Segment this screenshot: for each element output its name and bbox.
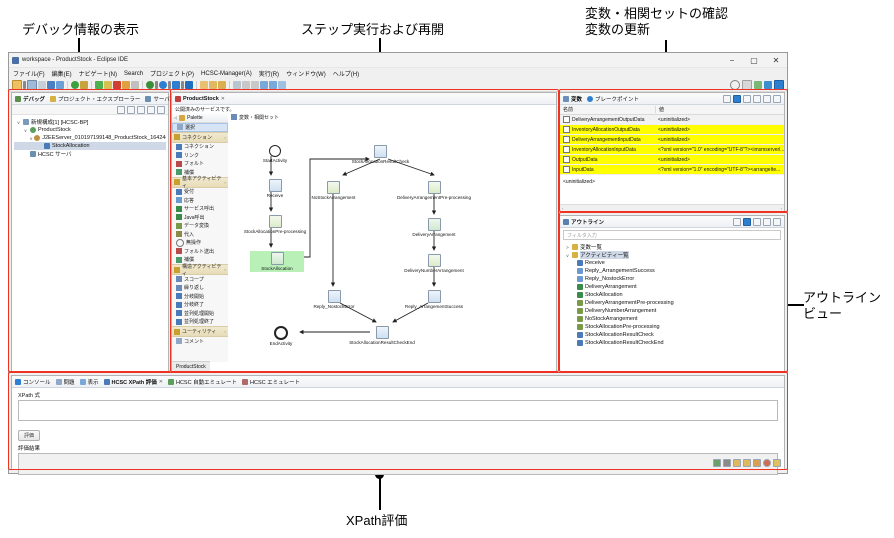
- palette-group-basic-activity-label: 基本アクティビティ: [182, 175, 223, 189]
- palette-item-link-label: リンク: [184, 152, 199, 159]
- list-item[interactable]: DeliveryArrangement: [562, 283, 782, 291]
- start-activity-icon: [269, 145, 281, 157]
- tab-debug-label: デバッグ: [23, 95, 45, 103]
- annotation-xpath: XPath評価: [346, 513, 407, 529]
- transform-icon-3: [428, 181, 441, 194]
- eclipse-window: workspace - ProductStock - Eclipse IDE −…: [8, 52, 788, 474]
- table-row[interactable]: InventoryAllocationInputData <?xml versi…: [560, 145, 784, 155]
- variables-horizontal-scrollbar[interactable]: ‹ ›: [560, 204, 784, 211]
- reply-icon-2: [428, 290, 441, 303]
- frame-icon: [44, 143, 50, 149]
- variables-correlation-icon: [231, 114, 237, 120]
- diagram-node-reply-arrangementsuccess[interactable]: Reply_ArrangementSuccess: [395, 290, 473, 309]
- thread-icon: [34, 135, 40, 141]
- diagram-node-resultcheck-label: StockAllocationResultCheck: [352, 159, 409, 164]
- filter-icon[interactable]: [127, 106, 135, 114]
- menu-window[interactable]: ウィンドウ(W): [286, 69, 326, 78]
- palette-group-structured-activity[interactable]: 構造アクティビティ ▫: [172, 264, 228, 275]
- bpel-editor: ProductStock ✕ 公開済みのサービスです。 ◁ Palette 選択…: [171, 92, 557, 372]
- variable-value-cell: <uninitialized>: [655, 127, 784, 133]
- diagram-node-nostockarrangement-label: NoStockArrangement: [312, 195, 356, 200]
- xpath-expression-input[interactable]: [18, 400, 778, 421]
- variable-name-text: DeliveryArrangementOutputData: [572, 117, 645, 123]
- transform-icon-5: [577, 300, 583, 306]
- pin-icon[interactable]: [278, 81, 286, 89]
- main-toolbar: [9, 79, 787, 92]
- tab-debug[interactable]: デバッグ: [15, 95, 45, 103]
- palette-group-utility[interactable]: ユーティリティ ▫: [172, 326, 228, 337]
- profile-icon[interactable]: [185, 81, 193, 89]
- open-file-icon[interactable]: [733, 459, 741, 467]
- variable-checkbox-icon: [563, 156, 570, 163]
- tree-node-frame-label: StockAllocation: [52, 143, 90, 149]
- palette-item-fault-label: フォルト: [184, 160, 204, 167]
- outline-item-label: NoStockArrangement: [585, 316, 638, 322]
- diagram-node-resultcheckend[interactable]: StockAllocationResultCheckEnd: [336, 326, 428, 345]
- palette-group-utility-label: ユーティリティ: [182, 328, 216, 335]
- tree-node-process[interactable]: v ProductStock: [14, 126, 166, 134]
- diagram-node-stockallocationpre-label: StockAllocationPre-processing: [244, 229, 306, 234]
- palette-item-java-invoke[interactable]: Java呼出: [172, 213, 228, 222]
- collapse-icon-3[interactable]: ▫: [225, 267, 226, 272]
- tab-display[interactable]: 表示: [80, 378, 99, 386]
- outline-item-label: Receive: [585, 260, 605, 266]
- debug-view-toolbar: [12, 105, 168, 115]
- list-item[interactable]: Receive: [562, 259, 782, 267]
- xpath-icon: [104, 379, 110, 385]
- reply-icon-4: [577, 268, 583, 274]
- palette-item-throw-fault-label: フォルト送出: [184, 248, 214, 255]
- perspective-debug-icon[interactable]: [764, 81, 772, 89]
- palette-item-loop-label: 繰り返し: [184, 284, 204, 291]
- palette-item-parallel-start-label: 並列処理開始: [184, 310, 214, 317]
- auto-emulate-icon: [168, 379, 174, 385]
- menu-edit[interactable]: 編集(E): [52, 69, 72, 78]
- collapse-icon[interactable]: ▫: [225, 135, 226, 140]
- tab-close-icon[interactable]: ✕: [221, 96, 225, 102]
- invoke-icon-4: [577, 292, 583, 298]
- chevron-left-icon[interactable]: ◁: [174, 115, 177, 120]
- bpel-file-icon: [175, 96, 181, 102]
- tab-project-explorer-label: プロジェクト・エクスプローラー: [58, 95, 140, 103]
- palette-group-basic-activity[interactable]: 基本アクティビティ ▫: [172, 177, 228, 188]
- palette-item-loop[interactable]: 繰り返し: [172, 284, 228, 293]
- parallel-start-icon: [176, 310, 182, 316]
- tab-problems-label: 問題: [64, 378, 75, 386]
- display-icon: [80, 379, 86, 385]
- chevron-down-icon-4[interactable]: [181, 81, 184, 89]
- build-icon[interactable]: [47, 81, 55, 89]
- edit-pencil-icon[interactable]: [753, 459, 761, 467]
- diagram-node-reply-nostockerror-label: Reply_NostockError: [313, 304, 354, 309]
- palette-item-select[interactable]: 選択: [172, 123, 228, 132]
- collapse-all-icon[interactable]: [117, 106, 125, 114]
- minimize-view-icon-3[interactable]: [763, 218, 771, 226]
- minimize-button[interactable]: −: [721, 54, 743, 67]
- column-header-name[interactable]: 名前: [560, 106, 655, 113]
- folder-icon: [572, 244, 578, 250]
- diagram-node-startactivity[interactable]: StartActivity: [255, 145, 295, 163]
- list-item[interactable]: NoStockArrangement: [562, 315, 782, 323]
- toolbar-separator-1: [67, 81, 68, 89]
- bottom-view-tabbar: コンソール 問題 表示 HCSC XPath 評価 ✕ HCSC 自動エミュレー…: [12, 376, 784, 388]
- variable-value-cell: <?xml version="1.0" encoding="UTF-8"?><a…: [655, 167, 784, 173]
- resume-icon[interactable]: [95, 81, 103, 89]
- diagram-node-receive-label: Receive: [267, 193, 284, 198]
- transform-icon-2: [327, 181, 340, 194]
- launch-icon: [23, 119, 29, 125]
- tab-hcsc-xpath-evaluation[interactable]: HCSC XPath 評価 ✕: [104, 378, 163, 386]
- diagram-node-deliverynumberarrangement[interactable]: DeliveryNumberArrangement: [394, 254, 474, 273]
- step-over-icon[interactable]: [131, 81, 139, 89]
- diagram-node-deliveryarrangement[interactable]: DeliveryArrangement: [400, 218, 468, 237]
- variable-value-cell: <?xml version="1.0" encoding="UTF-8"?><i…: [655, 147, 784, 153]
- paste-icon[interactable]: [723, 459, 731, 467]
- back-icon[interactable]: [260, 81, 268, 89]
- outline-node-variables-label: 変数一覧: [580, 243, 602, 251]
- search-tool-icon[interactable]: [233, 81, 241, 89]
- debug-tree: v 新規構成[1] [HCSC-BP] v ProductStock v J2E…: [12, 115, 168, 161]
- variable-value-cell: <uninitialized>: [655, 117, 784, 123]
- chevron-down-icon-5[interactable]: v: [565, 253, 570, 258]
- tab-breakpoints[interactable]: ブレークポイント: [587, 95, 639, 103]
- palette-item-empty[interactable]: 無操作: [172, 239, 228, 248]
- open-type-icon[interactable]: [146, 81, 154, 89]
- variable-name-cell: DeliveryArrangementInputData: [560, 136, 655, 143]
- outline-view: アウトライン フィルタ入力 > 変数一覧 v アクティビティー覧: [559, 215, 785, 372]
- palette: ◁ Palette 選択 コネクション ▫ コネクション リンク: [172, 113, 229, 362]
- annotation-outline-view: アウトライン ビュー: [803, 290, 881, 323]
- forward-icon[interactable]: [269, 81, 277, 89]
- close-button[interactable]: ✕: [765, 54, 787, 67]
- chevron-down-icon[interactable]: [23, 81, 26, 89]
- table-row[interactable]: DeliveryArrangementOutputData <uninitial…: [560, 115, 784, 125]
- palette-header[interactable]: ◁ Palette: [172, 113, 228, 123]
- tab-problems[interactable]: 問題: [56, 378, 75, 386]
- collapse-icon-2[interactable]: ▫: [225, 180, 226, 185]
- folder-icon[interactable]: [200, 81, 208, 89]
- variable-name-text: InventoryAllocationInputData: [572, 147, 636, 153]
- branch-end-icon: [176, 302, 182, 308]
- tab-console[interactable]: コンソール: [15, 378, 51, 386]
- diagram-node-stockallocation[interactable]: StockAllocation: [250, 251, 304, 272]
- palette-item-comment[interactable]: コメント: [172, 337, 228, 346]
- menu-project[interactable]: プロジェクト(P): [150, 69, 194, 78]
- palette-item-connection[interactable]: コネクション: [172, 143, 228, 152]
- palette-item-service-invoke[interactable]: サービス呼出: [172, 205, 228, 214]
- xpath-expression-label: XPath 式: [18, 391, 778, 399]
- palette-item-branch-end-label: 分岐終了: [184, 301, 204, 308]
- palette-group-connection[interactable]: コネクション ▫: [172, 132, 228, 143]
- window-controls: − ▢ ✕: [721, 54, 787, 67]
- diagram-node-receive[interactable]: Receive: [255, 179, 295, 198]
- menu-navigate[interactable]: ナビゲート(N): [79, 69, 117, 78]
- palette-item-assign[interactable]: 代入: [172, 230, 228, 239]
- list-item[interactable]: StockAllocationPre-processing: [562, 323, 782, 331]
- tab-hcsc-emulate[interactable]: HCSC エミュレート: [242, 378, 300, 386]
- editor-tabbar: ProductStock ✕: [172, 93, 556, 105]
- outline-item-label: Reply_ArrangementSuccess: [585, 268, 655, 274]
- reply-icon-3: [328, 290, 341, 303]
- evaluation-result-output[interactable]: [18, 453, 778, 475]
- save-all-icon[interactable]: [38, 81, 46, 89]
- invoke-icon-3: [577, 284, 583, 290]
- variable-checkbox-icon: [563, 116, 570, 123]
- throw-fault-icon: [176, 248, 182, 254]
- bug-icon: [15, 96, 21, 102]
- diagram-node-stockallocation-label: StockAllocation: [261, 266, 292, 271]
- table-row[interactable]: InputData <?xml version="1.0" encoding="…: [560, 165, 784, 175]
- terminate-icon[interactable]: [113, 81, 121, 89]
- debug-as-icon[interactable]: [172, 81, 180, 89]
- maximize-view-icon-3[interactable]: [773, 218, 781, 226]
- variable-name-text: OutputData: [572, 157, 598, 163]
- menu-run[interactable]: 実行(R): [259, 69, 279, 78]
- diagram-node-endactivity-label: EndActivity: [270, 341, 293, 346]
- minimize-view-icon-2[interactable]: [763, 95, 771, 103]
- edit-icon[interactable]: [218, 81, 226, 89]
- minimize-view-icon[interactable]: [147, 106, 155, 114]
- maximize-button[interactable]: ▢: [743, 54, 765, 67]
- collapse-icon-4[interactable]: ▫: [225, 329, 226, 334]
- collapse-all-icon-2[interactable]: [723, 95, 731, 103]
- column-header-value[interactable]: 値: [655, 106, 784, 113]
- reply-icon: [176, 197, 182, 203]
- tree-node-hcsc-server-label: HCSC サーバ: [38, 150, 72, 158]
- folder-icon-5: [572, 252, 578, 258]
- palette-item-reply-label: 応答: [184, 197, 194, 204]
- quick-access-search-icon[interactable]: [730, 80, 740, 90]
- outline-view-toolbar: [733, 218, 781, 226]
- run-icon[interactable]: [71, 81, 79, 89]
- palette-item-parallel-end-label: 並列処理終了: [184, 318, 214, 325]
- palette-item-java-invoke-label: Java呼出: [184, 214, 205, 221]
- tree-node-thread[interactable]: v J2EEServer_010197199148_ProductStock_1…: [14, 134, 166, 142]
- xpath-view-toolbar: [713, 459, 781, 467]
- chevron-down-icon[interactable]: v: [23, 128, 28, 133]
- cursor-icon: [177, 124, 183, 130]
- debug-view-tabbar: デバッグ プロジェクト・エクスプローラー サーバー: [12, 93, 168, 105]
- outline-item-label: Reply_NostockError: [585, 276, 634, 282]
- invoke-icon-2: [428, 218, 441, 231]
- list-item[interactable]: DeliveryArrangementPre-processing: [562, 299, 782, 307]
- invoke-icon: [176, 206, 182, 212]
- tree-node-process-label: ProductStock: [38, 127, 71, 133]
- canvas-variables-header-label: 変数・相関セット: [239, 114, 279, 121]
- palette-item-parallel-end[interactable]: 並列処理終了: [172, 318, 228, 327]
- toolbar-separator-2: [91, 81, 92, 89]
- help-icon[interactable]: [773, 459, 781, 467]
- outline-icon: [563, 219, 569, 225]
- menu-file[interactable]: ファイル(F): [13, 69, 45, 78]
- sort-icon[interactable]: [733, 218, 741, 226]
- diagram-node-reply-nostockerror[interactable]: Reply_NostockError: [303, 290, 365, 309]
- diagram-node-stockallocationpre[interactable]: StockAllocationPre-processing: [230, 215, 320, 234]
- tab-productstock-editor-label: ProductStock: [183, 96, 219, 102]
- folder2-icon[interactable]: [209, 81, 217, 89]
- new-icon[interactable]: [12, 80, 22, 90]
- maximize-view-icon-2[interactable]: [773, 95, 781, 103]
- server-icon: [145, 96, 151, 102]
- window-title: workspace - ProductStock - Eclipse IDE: [22, 57, 128, 63]
- palette-item-data-transform[interactable]: データ変換: [172, 222, 228, 231]
- save-icon[interactable]: [27, 80, 37, 90]
- list-item[interactable]: Reply_NostockError: [562, 275, 782, 283]
- tab-close-icon-2[interactable]: ✕: [159, 379, 163, 385]
- variable-name-cell: OutputData: [560, 156, 655, 163]
- evaluate-button[interactable]: 評価: [18, 430, 40, 441]
- canvas-variables-header[interactable]: 変数・相関セット: [228, 113, 556, 121]
- fault-icon: [176, 161, 182, 167]
- transform-icon-8: [577, 324, 583, 330]
- diagram-node-deliverynumberarrangement-label: DeliveryNumberArrangement: [404, 268, 464, 273]
- project-icon: [50, 96, 56, 102]
- menu-hcsc-manager[interactable]: HCSC-Manager(A): [201, 71, 252, 77]
- perspective-java-icon[interactable]: [754, 81, 762, 89]
- palette-item-comment-label: コメント: [184, 338, 204, 345]
- list-item[interactable]: StockAllocation: [562, 291, 782, 299]
- annotation-step-execution: ステップ実行および再開: [301, 22, 444, 38]
- variables-table-header: 名前 値: [560, 105, 784, 115]
- palette-item-branch-start-label: 分岐開始: [184, 293, 204, 300]
- loop-icon: [176, 285, 182, 291]
- outline-tree: > 変数一覧 v アクティビティー覧 Receive Reply_Arrange…: [560, 242, 784, 350]
- tab-variables[interactable]: 変数: [563, 95, 582, 103]
- palette-item-link[interactable]: リンク: [172, 151, 228, 160]
- outline-node-activities[interactable]: v アクティビティー覧: [562, 251, 782, 259]
- table-row[interactable]: DeliveryArrangementInputData <uninitiali…: [560, 135, 784, 145]
- hide-fields-icon[interactable]: [743, 218, 751, 226]
- tab-hcsc-emulate-label: HCSC エミュレート: [250, 378, 300, 386]
- outline-item-label: DeliveryArrangementPre-processing: [585, 300, 674, 306]
- variable-checkbox-icon: [563, 136, 570, 143]
- palette-item-data-transform-label: データ変換: [184, 222, 209, 229]
- menu-search[interactable]: Search: [124, 71, 143, 77]
- list-item[interactable]: StockAllocationResultCheck: [562, 331, 782, 339]
- editor-status-tab[interactable]: ProductStock: [172, 361, 210, 371]
- chevron-down-icon[interactable]: v: [30, 136, 32, 141]
- tree-node-launch[interactable]: v 新規構成[1] [HCSC-BP]: [14, 118, 166, 126]
- process-icon: [30, 127, 36, 133]
- outline-filter-input[interactable]: フィルタ入力: [563, 230, 781, 240]
- diagram-node-endactivity[interactable]: EndActivity: [260, 326, 302, 346]
- chevron-right-icon[interactable]: >: [565, 245, 570, 250]
- emulate-icon: [242, 379, 248, 385]
- menu-help[interactable]: ヘルプ(H): [333, 69, 359, 78]
- tab-outline[interactable]: アウトライン: [563, 218, 604, 226]
- diagram-node-deliveryarrangementpre[interactable]: DeliveryArrangementPre-processing: [384, 181, 484, 200]
- palette-item-throw-fault[interactable]: フォルト送出: [172, 247, 228, 256]
- merge-icon: [376, 326, 389, 339]
- suspend-icon[interactable]: [104, 81, 112, 89]
- outline-node-variables[interactable]: > 変数一覧: [562, 243, 782, 251]
- maximize-view-icon[interactable]: [157, 106, 165, 114]
- tree-node-hcsc-server[interactable]: HCSC サーバ: [14, 150, 166, 158]
- variable-name-text: DeliveryArrangementInputData: [572, 137, 641, 143]
- wrench-icon[interactable]: [56, 81, 64, 89]
- diagram-node-deliveryarrangementpre-label: DeliveryArrangementPre-processing: [397, 195, 471, 200]
- diagram-node-nostockarrangement[interactable]: NoStockArrangement: [300, 181, 367, 200]
- transform-icon-7: [577, 316, 583, 322]
- list-item[interactable]: Reply_ArrangementSuccess: [562, 267, 782, 275]
- palette-item-branch-start[interactable]: 分岐開始: [172, 292, 228, 301]
- variable-detail-pane[interactable]: <uninitialized>: [560, 175, 784, 189]
- transform-icon: [269, 215, 282, 228]
- variable-name-text: InputData: [572, 167, 594, 173]
- branch-icon: [374, 145, 387, 158]
- end-activity-icon: [274, 326, 288, 340]
- table-row[interactable]: OutputData <uninitialized>: [560, 155, 784, 165]
- perspective-open-icon[interactable]: [742, 80, 752, 90]
- variable-value-cell: <uninitialized>: [655, 157, 784, 163]
- tab-project-explorer[interactable]: プロジェクト・エクスプローラー: [50, 95, 140, 103]
- prev-annotation-icon[interactable]: [251, 81, 259, 89]
- chevron-down-icon-3[interactable]: [168, 81, 171, 89]
- chevron-down-icon[interactable]: v: [16, 120, 21, 125]
- clear-icon[interactable]: [713, 459, 721, 467]
- tree-node-frame[interactable]: StockAllocation: [14, 142, 166, 150]
- parallel-end-icon: [176, 319, 182, 325]
- debug-icon[interactable]: [80, 81, 88, 89]
- variable-name-cell: InventoryAllocationOutputData: [560, 126, 655, 133]
- diagram-node-resultcheck[interactable]: StockAllocationResultCheck: [338, 145, 423, 164]
- palette-item-fault[interactable]: フォルト: [172, 160, 228, 169]
- layout-icon[interactable]: [743, 95, 751, 103]
- scroll-right-icon[interactable]: ›: [781, 206, 782, 211]
- chevron-down-icon-2[interactable]: [155, 81, 158, 89]
- view-menu-icon[interactable]: [137, 106, 145, 114]
- palette-item-reply[interactable]: 応答: [172, 196, 228, 205]
- list-item[interactable]: StockAllocationResultCheckEnd: [562, 339, 782, 347]
- toolbar-right-group: [730, 80, 784, 90]
- folder-icon-4: [174, 329, 180, 335]
- tab-outline-label: アウトライン: [571, 218, 604, 226]
- diagram-node-deliveryarrangement-label: DeliveryArrangement: [412, 232, 455, 237]
- xpath-evaluation-view: コンソール 問題 表示 HCSC XPath 評価 ✕ HCSC 自動エミュレー…: [11, 375, 785, 470]
- run-as-icon[interactable]: [159, 81, 167, 89]
- stop-icon[interactable]: [763, 459, 771, 467]
- list-item[interactable]: DeliveryNumberArrangement: [562, 307, 782, 315]
- palette-item-parallel-start[interactable]: 並列処理開始: [172, 309, 228, 318]
- link-icon: [176, 152, 182, 158]
- tab-hcsc-auto-emulate-label: HCSC 自動エミュレート: [176, 378, 237, 386]
- evaluation-result-label: 評価結果: [18, 444, 778, 452]
- table-row[interactable]: InventoryAllocationOutputData <uninitial…: [560, 125, 784, 135]
- palette-item-service-invoke-label: サービス呼出: [184, 205, 214, 212]
- breakpoint-icon: [587, 96, 593, 102]
- folder-icon: [174, 134, 180, 140]
- tab-console-label: コンソール: [23, 378, 51, 386]
- tab-hcsc-auto-emulate[interactable]: HCSC 自動エミュレート: [168, 378, 237, 386]
- show-logical-structure-icon[interactable]: [733, 95, 741, 103]
- view-menu-icon-2[interactable]: [753, 95, 761, 103]
- eclipse-logo-icon: [12, 57, 19, 64]
- palette-item-assign-label: 代入: [184, 231, 194, 238]
- next-annotation-icon[interactable]: [242, 81, 250, 89]
- palette-item-branch-end[interactable]: 分岐終了: [172, 301, 228, 310]
- view-menu-icon-3[interactable]: [753, 218, 761, 226]
- variables-view: 変数 ブレークポイント 名前 値 Delivery: [559, 92, 785, 212]
- export-icon[interactable]: [743, 459, 751, 467]
- palette-item-connection-label: コネクション: [184, 143, 214, 150]
- tab-productstock-editor[interactable]: ProductStock ✕: [175, 96, 225, 102]
- step-into-icon[interactable]: [122, 81, 130, 89]
- process-diagram-canvas[interactable]: 変数・相関セット: [228, 113, 556, 362]
- outline-item-label: DeliveryArrangement: [585, 284, 637, 290]
- perspective-active-icon[interactable]: [774, 80, 784, 90]
- scroll-left-icon[interactable]: ‹: [562, 206, 563, 211]
- tab-display-label: 表示: [88, 378, 99, 386]
